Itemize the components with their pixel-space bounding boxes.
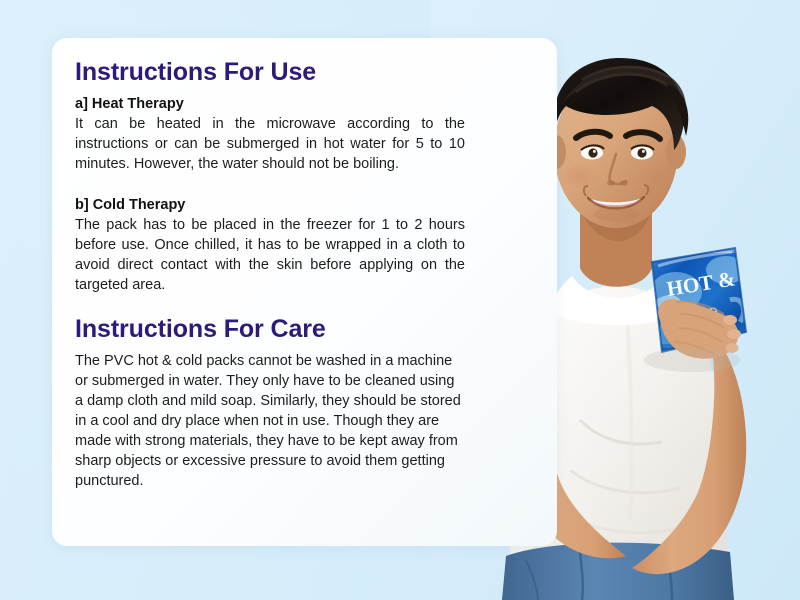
heat-therapy-text: It can be heated in the microwave accord… [75,114,465,174]
care-text: The PVC hot & cold packs cannot be washe… [75,351,465,491]
instructions-content: Instructions For Use a] Heat Therapy It … [75,58,465,491]
cold-therapy-label: b] Cold Therapy [75,196,465,214]
section-gap [75,174,465,187]
cold-therapy-text: The pack has to be placed in the freezer… [75,215,465,295]
page-title-care: Instructions For Care [75,315,465,343]
page-title-use: Instructions For Use [75,58,465,86]
heat-therapy-label: a] Heat Therapy [75,95,465,113]
